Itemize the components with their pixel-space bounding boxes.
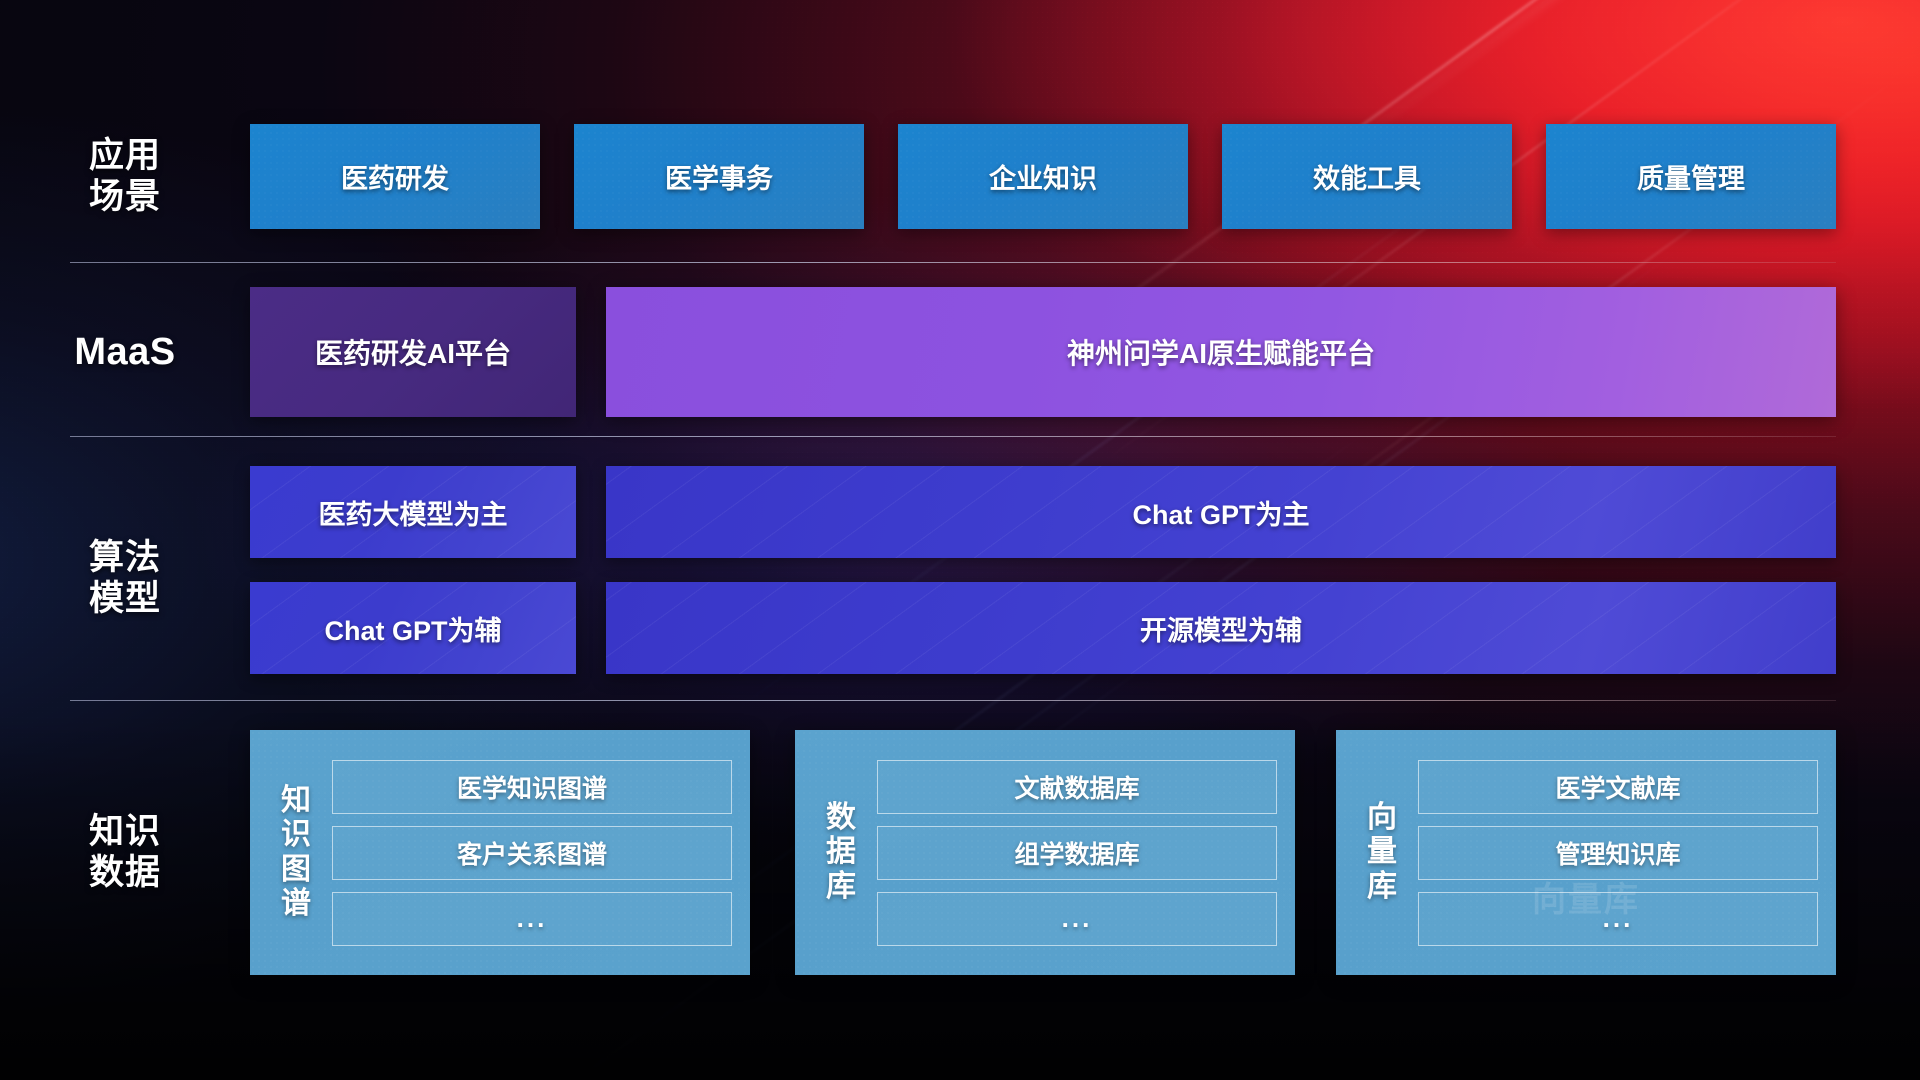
group-items-knowledge-graph: 医学知识图谱 客户关系图谱 ... bbox=[332, 760, 736, 946]
algo-box-opensource-secondary[interactable]: 开源模型为辅 bbox=[606, 582, 1836, 674]
group-vertical-label-vector-store: 向量库 bbox=[1346, 801, 1418, 904]
app-box-label: 效能工具 bbox=[1313, 157, 1421, 196]
kd-item-label: 医学文献库 bbox=[1555, 769, 1680, 805]
algo-box-chatgpt-secondary[interactable]: Chat GPT为辅 bbox=[250, 582, 576, 674]
group-vertical-label-database: 数据库 bbox=[805, 801, 877, 904]
algo-box-pharma-llm-primary[interactable]: 医药大模型为主 bbox=[250, 466, 576, 558]
algo-box-label: 医药大模型为主 bbox=[319, 493, 508, 532]
app-box-label: 质量管理 bbox=[1637, 157, 1745, 196]
kd-item-label: ... bbox=[517, 903, 548, 934]
kd-item-management-knowledge-store[interactable]: 管理知识库 bbox=[1418, 826, 1818, 880]
kd-item-medical-literature-store[interactable]: 医学文献库 bbox=[1418, 760, 1818, 814]
row-algorithm-models: 算法 模型 医药大模型为主 Chat GPT为主 Chat GPT为辅 开源模型… bbox=[0, 466, 1920, 691]
kd-item-label: 管理知识库 bbox=[1555, 835, 1680, 871]
row-application-scenarios: 应用 场景 医药研发 医学事务 企业知识 效能工具 bbox=[0, 124, 1920, 229]
row-label-maas: MaaS bbox=[0, 330, 250, 374]
kd-item-customer-relation-graph[interactable]: 客户关系图谱 bbox=[332, 826, 732, 880]
knowledge-group-database[interactable]: 数据库 文献数据库 组学数据库 ... bbox=[795, 730, 1295, 975]
app-box-label: 医药研发 bbox=[341, 157, 449, 196]
knowledge-group-vector-store[interactable]: 向量库 向量库 医学文献库 管理知识库 ... bbox=[1336, 730, 1836, 975]
app-box-label: 企业知识 bbox=[989, 157, 1097, 196]
row-knowledge-data: 知识 数据 知识图谱 医学知识图谱 客户关系图谱 ... bbox=[0, 730, 1920, 975]
algo-box-label: Chat GPT为主 bbox=[1132, 493, 1309, 532]
kd-item-more-database[interactable]: ... bbox=[877, 892, 1277, 946]
row-label-knowledge-data: 知识 数据 bbox=[0, 812, 250, 893]
app-box-drug-rnd[interactable]: 医药研发 bbox=[250, 124, 540, 229]
group-items-database: 文献数据库 组学数据库 ... bbox=[877, 760, 1281, 946]
app-box-efficiency-tools[interactable]: 效能工具 bbox=[1222, 124, 1512, 229]
maas-box-label: 医药研发AI平台 bbox=[315, 332, 511, 372]
app-box-enterprise-knowledge[interactable]: 企业知识 bbox=[898, 124, 1188, 229]
knowledge-group-knowledge-graph[interactable]: 知识图谱 医学知识图谱 客户关系图谱 ... bbox=[250, 730, 750, 975]
kd-item-label: 文献数据库 bbox=[1014, 769, 1139, 805]
diagram-canvas: 应用 场景 医药研发 医学事务 企业知识 效能工具 bbox=[0, 0, 1920, 1080]
kd-item-more-knowledge-graph[interactable]: ... bbox=[332, 892, 732, 946]
kd-item-omics-database[interactable]: 组学数据库 bbox=[877, 826, 1277, 880]
kd-item-more-vector-store[interactable]: ... bbox=[1418, 892, 1818, 946]
app-box-quality-management[interactable]: 质量管理 bbox=[1546, 124, 1836, 229]
kd-item-label: 客户关系图谱 bbox=[457, 835, 607, 871]
divider-after-application-scenarios bbox=[70, 262, 1836, 263]
app-box-label: 医学事务 bbox=[665, 157, 773, 196]
app-box-medical-affairs[interactable]: 医学事务 bbox=[574, 124, 864, 229]
kd-item-label: ... bbox=[1603, 903, 1634, 934]
kd-item-label: 医学知识图谱 bbox=[457, 769, 607, 805]
algo-box-chatgpt-primary[interactable]: Chat GPT为主 bbox=[606, 466, 1836, 558]
row-label-application-scenarios: 应用 场景 bbox=[0, 136, 250, 217]
group-vertical-label-knowledge-graph: 知识图谱 bbox=[260, 784, 332, 921]
row-maas: MaaS 医药研发AI平台 神州问学AI原生赋能平台 bbox=[0, 287, 1920, 417]
divider-after-maas bbox=[70, 436, 1836, 437]
row-label-algorithm-models: 算法 模型 bbox=[0, 538, 250, 619]
kd-item-label: ... bbox=[1062, 903, 1093, 934]
algo-box-label: Chat GPT为辅 bbox=[324, 609, 501, 648]
maas-box-drug-rnd-ai-platform[interactable]: 医药研发AI平台 bbox=[250, 287, 576, 417]
algo-box-label: 开源模型为辅 bbox=[1140, 609, 1302, 648]
maas-box-label: 神州问学AI原生赋能平台 bbox=[1067, 332, 1375, 372]
kd-item-label: 组学数据库 bbox=[1014, 835, 1139, 871]
maas-box-shenzhou-wenxue-platform[interactable]: 神州问学AI原生赋能平台 bbox=[606, 287, 1836, 417]
divider-after-algorithm-models bbox=[70, 700, 1836, 701]
group-items-vector-store: 医学文献库 管理知识库 ... bbox=[1418, 760, 1822, 946]
kd-item-literature-database[interactable]: 文献数据库 bbox=[877, 760, 1277, 814]
kd-item-medical-knowledge-graph[interactable]: 医学知识图谱 bbox=[332, 760, 732, 814]
